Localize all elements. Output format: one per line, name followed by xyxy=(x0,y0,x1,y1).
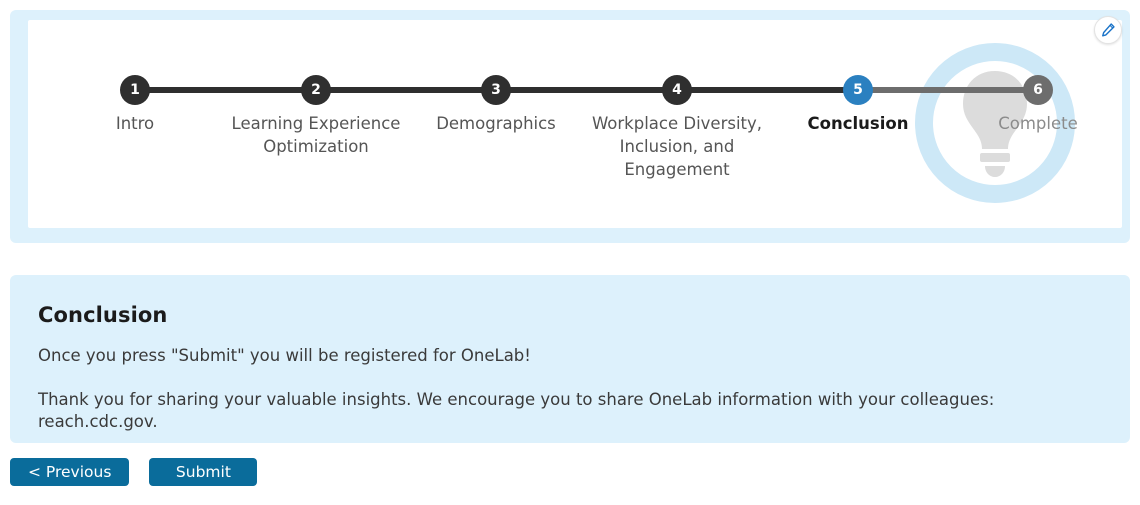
content-panel: Conclusion Once you press "Submit" you w… xyxy=(10,275,1130,443)
stepper-step-2-label: Learning Experience Optimization xyxy=(221,112,411,158)
content-paragraph-1: Once you press "Submit" you will be regi… xyxy=(38,345,1110,367)
stepper-step-4-label: Workplace Diversity, Inclusion, and Enga… xyxy=(582,112,772,181)
page-title: Conclusion xyxy=(38,303,1110,327)
stepper-track-remaining xyxy=(858,87,1038,93)
stepper-step-6-label: Complete xyxy=(943,112,1122,135)
stepper-step-3-label: Demographics xyxy=(401,112,591,135)
stepper-step-1-label: Intro xyxy=(40,112,230,135)
previous-button[interactable]: < Previous xyxy=(10,458,129,486)
stepper-card: 1 Intro 2 Learning Experience Optimizati… xyxy=(28,20,1122,228)
stepper-step-5-label: Conclusion xyxy=(763,112,953,135)
content-paragraph-2: Thank you for sharing your valuable insi… xyxy=(38,389,1110,433)
stepper-step-1-number: 1 xyxy=(120,75,150,105)
edit-button[interactable] xyxy=(1094,16,1122,44)
stepper: 1 Intro 2 Learning Experience Optimizati… xyxy=(28,20,1122,228)
button-bar: < Previous Submit xyxy=(10,458,257,486)
stepper-step-5-number: 5 xyxy=(843,75,873,105)
progress-panel: 1 Intro 2 Learning Experience Optimizati… xyxy=(10,10,1130,243)
stepper-step-6-number: 6 xyxy=(1023,75,1053,105)
stepper-step-4-number: 4 xyxy=(662,75,692,105)
stepper-step-2-number: 2 xyxy=(301,75,331,105)
pencil-icon xyxy=(1101,23,1115,37)
stepper-step-3-number: 3 xyxy=(481,75,511,105)
submit-button[interactable]: Submit xyxy=(149,458,257,486)
